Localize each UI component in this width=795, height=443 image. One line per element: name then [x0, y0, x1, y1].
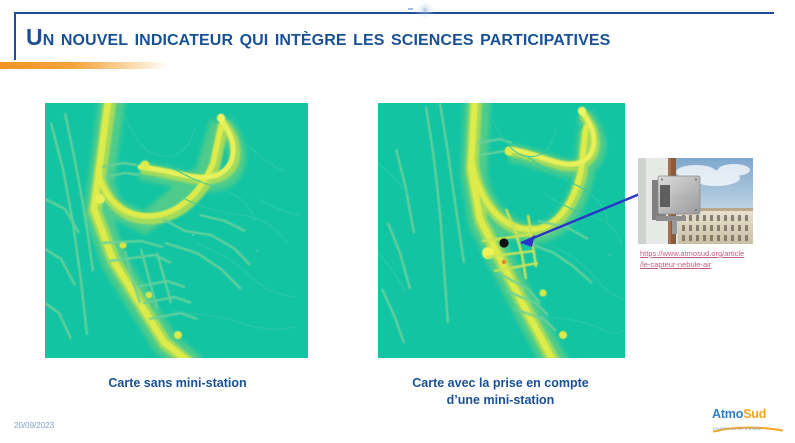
sensor-article-link-line1: https://www.atmosud.org/article	[640, 248, 760, 259]
page-title: Un nouvel indicateur qui intègre les sci…	[26, 22, 610, 52]
logo-tagline: Inspirer un air meilleur	[713, 426, 762, 431]
caption-map-right: Carte avec la prise en compte d’une mini…	[368, 375, 633, 409]
footer-date: 20/09/2023	[14, 421, 54, 430]
sensor-article-link-line2: /le-capteur-nebule-air	[640, 259, 760, 270]
atmosud-logo: AtmoSud Inspirer un air meilleur	[712, 408, 784, 436]
svg-text:NEBULE: NEBULE	[672, 195, 700, 202]
map-with-ministation[interactable]	[378, 103, 625, 358]
caption-map-right-line1: Carte avec la prise en compte	[368, 375, 633, 392]
logo-word-sud: Sud	[743, 407, 766, 421]
title-block: Un nouvel indicateur qui intègre les sci…	[14, 12, 774, 60]
logo-word-atmo: Atmo	[712, 407, 743, 421]
caption-map-right-line2: d’une mini-station	[368, 392, 633, 409]
accent-bar	[0, 62, 168, 69]
sensor-photo[interactable]: NEBULE	[638, 158, 753, 244]
sunburst-decoration-icon	[408, 0, 442, 22]
caption-map-left: Carte sans mini-station	[55, 375, 300, 392]
sensor-article-link[interactable]: https://www.atmosud.org/article /le-capt…	[640, 248, 760, 270]
map-without-ministation[interactable]	[45, 103, 308, 358]
